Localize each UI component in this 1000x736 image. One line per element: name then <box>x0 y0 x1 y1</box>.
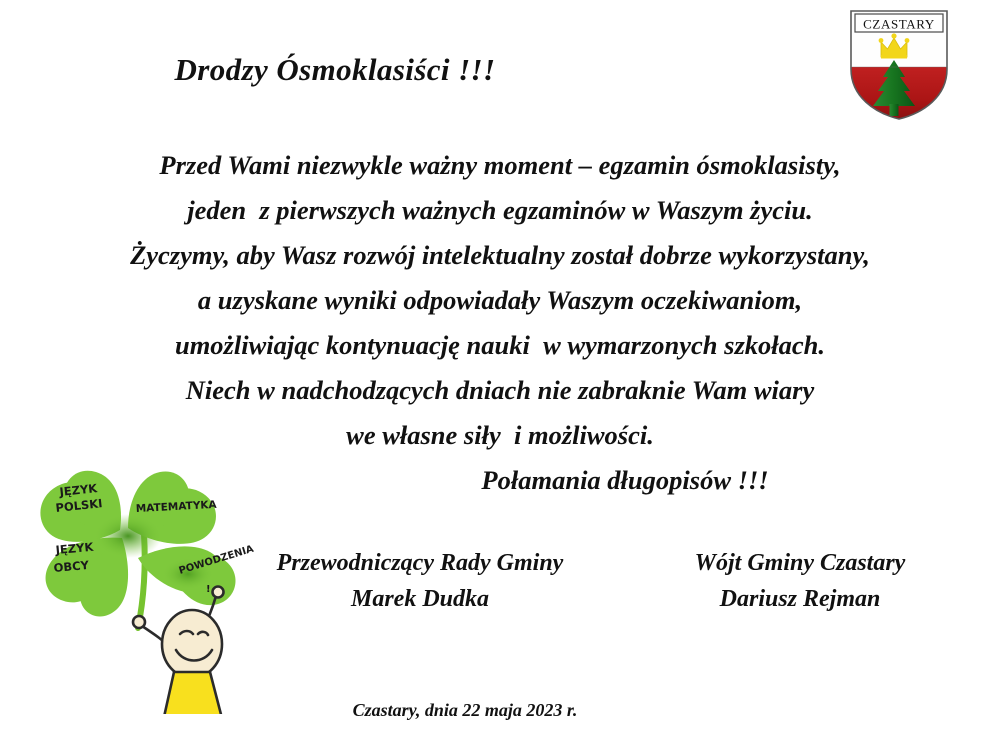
signature-block: Przewodniczący Rady Gminy Marek Dudka Wó… <box>250 545 970 617</box>
signature-title: Przewodniczący Rady Gminy <box>250 545 590 581</box>
four-leaf-clover-illustration: JĘZYK POLSKI MATEMATYKA JĘZYK OBCY POWOD… <box>20 458 282 714</box>
svg-text:!: ! <box>206 584 211 595</box>
body-line: Niech w nadchodzących dniach nie zabrakn… <box>60 368 940 413</box>
child-left-hand <box>133 616 145 628</box>
body-line: umożliwiając kontynuację nauki w wymarzo… <box>60 323 940 368</box>
body-line: Przed Wami niezwykle ważny moment – egza… <box>60 143 940 188</box>
body-line: Życzymy, aby Wasz rozwój intelektualny z… <box>60 233 940 278</box>
child-figure <box>133 587 224 715</box>
body-line: jeden z pierwszych ważnych egzaminów w W… <box>60 188 940 233</box>
signature-name: Marek Dudka <box>250 581 590 617</box>
signature-council-chairman: Przewodniczący Rady Gminy Marek Dudka <box>250 545 590 617</box>
child-head <box>162 610 222 678</box>
document-page: CZASTARY Drodzy Ósmoklasiści !!! Przed W… <box>0 0 1000 736</box>
page-title: Drodzy Ósmoklasiści !!! <box>0 52 1000 88</box>
child-right-hand <box>213 587 224 598</box>
body-line: a uzyskane wyniki odpowiadały Waszym ocz… <box>60 278 940 323</box>
body-line: we własne siły i możliwości. <box>60 413 940 458</box>
signature-mayor: Wójt Gminy Czastary Dariusz Rejman <box>630 545 970 617</box>
leaf-label-polski: JĘZYK POLSKI <box>55 481 103 515</box>
signature-name: Dariusz Rejman <box>630 581 970 617</box>
letter-body: Przed Wami niezwykle ważny moment – egza… <box>0 143 1000 503</box>
crest-banner-text: CZASTARY <box>863 17 935 32</box>
signature-title: Wójt Gminy Czastary <box>630 545 970 581</box>
clover-core <box>94 514 162 558</box>
child-dress <box>162 672 224 714</box>
